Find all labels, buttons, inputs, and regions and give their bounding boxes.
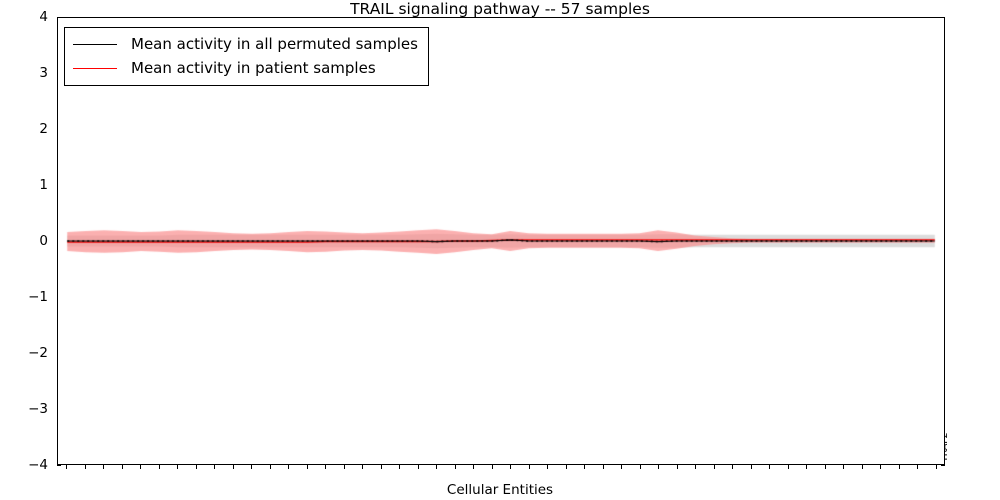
legend-label-permuted: Mean activity in all permuted samples	[131, 35, 418, 53]
chart-container: TRAIL signaling pathway -- 57 samples In…	[0, 0, 1000, 500]
x-tick-mark	[603, 465, 604, 469]
legend-item-patient: Mean activity in patient samples	[73, 56, 418, 80]
x-tick-mark	[584, 465, 585, 469]
x-tick-mark	[418, 465, 419, 469]
y-tick-label: −1	[2, 289, 48, 305]
x-tick-mark	[806, 465, 807, 469]
x-tick-mark	[214, 465, 215, 469]
x-tick-mark	[399, 465, 400, 469]
y-tick-label: −2	[2, 345, 48, 361]
y-tick-label: 2	[2, 121, 48, 137]
legend-swatch-patient	[73, 68, 117, 69]
legend-label-patient: Mean activity in patient samples	[131, 59, 376, 77]
x-tick-mark	[325, 465, 326, 469]
x-tick-mark	[677, 465, 678, 469]
y-tick-label: 3	[2, 65, 48, 81]
y-tick-label: 4	[2, 9, 48, 25]
x-tick-mark	[695, 465, 696, 469]
legend-swatch-permuted	[73, 44, 117, 45]
x-tick-mark	[344, 465, 345, 469]
x-tick-mark	[510, 465, 511, 469]
x-tick-mark	[159, 465, 160, 469]
x-tick-mark	[658, 465, 659, 469]
x-tick-mark	[233, 465, 234, 469]
x-tick-mark	[103, 465, 104, 469]
legend-item-permuted: Mean activity in all permuted samples	[73, 32, 418, 56]
x-tick-mark	[769, 465, 770, 469]
y-tick-label: 1	[2, 177, 48, 193]
x-tick-mark	[880, 465, 881, 469]
x-tick-mark	[788, 465, 789, 469]
x-tick-mark	[547, 465, 548, 469]
x-tick-mark	[529, 465, 530, 469]
x-tick-mark	[85, 465, 86, 469]
chart-legend: Mean activity in all permuted samples Me…	[64, 27, 429, 86]
x-tick-mark	[251, 465, 252, 469]
x-tick-mark	[288, 465, 289, 469]
x-tick-mark	[455, 465, 456, 469]
y-tick-mark	[941, 465, 945, 466]
y-tick-label: −3	[2, 401, 48, 417]
x-tick-mark	[714, 465, 715, 469]
x-tick-mark	[936, 465, 937, 469]
x-tick-mark	[66, 465, 67, 469]
x-tick-mark	[436, 465, 437, 469]
x-tick-mark	[140, 465, 141, 469]
x-tick-mark	[862, 465, 863, 469]
x-tick-mark	[899, 465, 900, 469]
x-tick-mark	[362, 465, 363, 469]
x-tick-mark	[381, 465, 382, 469]
x-tick-mark	[177, 465, 178, 469]
x-tick-mark	[473, 465, 474, 469]
x-tick-mark	[196, 465, 197, 469]
x-tick-mark	[122, 465, 123, 469]
x-tick-mark	[917, 465, 918, 469]
x-tick-mark	[843, 465, 844, 469]
x-axis-label: Cellular Entities	[0, 482, 1000, 498]
x-tick-mark	[825, 465, 826, 469]
y-tick-label: 0	[2, 233, 48, 249]
x-tick-mark	[732, 465, 733, 469]
x-tick-mark	[307, 465, 308, 469]
y-tick-mark	[57, 465, 61, 466]
x-tick-mark	[566, 465, 567, 469]
x-tick-mark	[640, 465, 641, 469]
x-tick-mark	[270, 465, 271, 469]
x-tick-mark	[492, 465, 493, 469]
y-tick-label: −4	[2, 457, 48, 473]
chart-title: TRAIL signaling pathway -- 57 samples	[0, 0, 1000, 18]
x-tick-mark	[751, 465, 752, 469]
x-tick-mark	[621, 465, 622, 469]
